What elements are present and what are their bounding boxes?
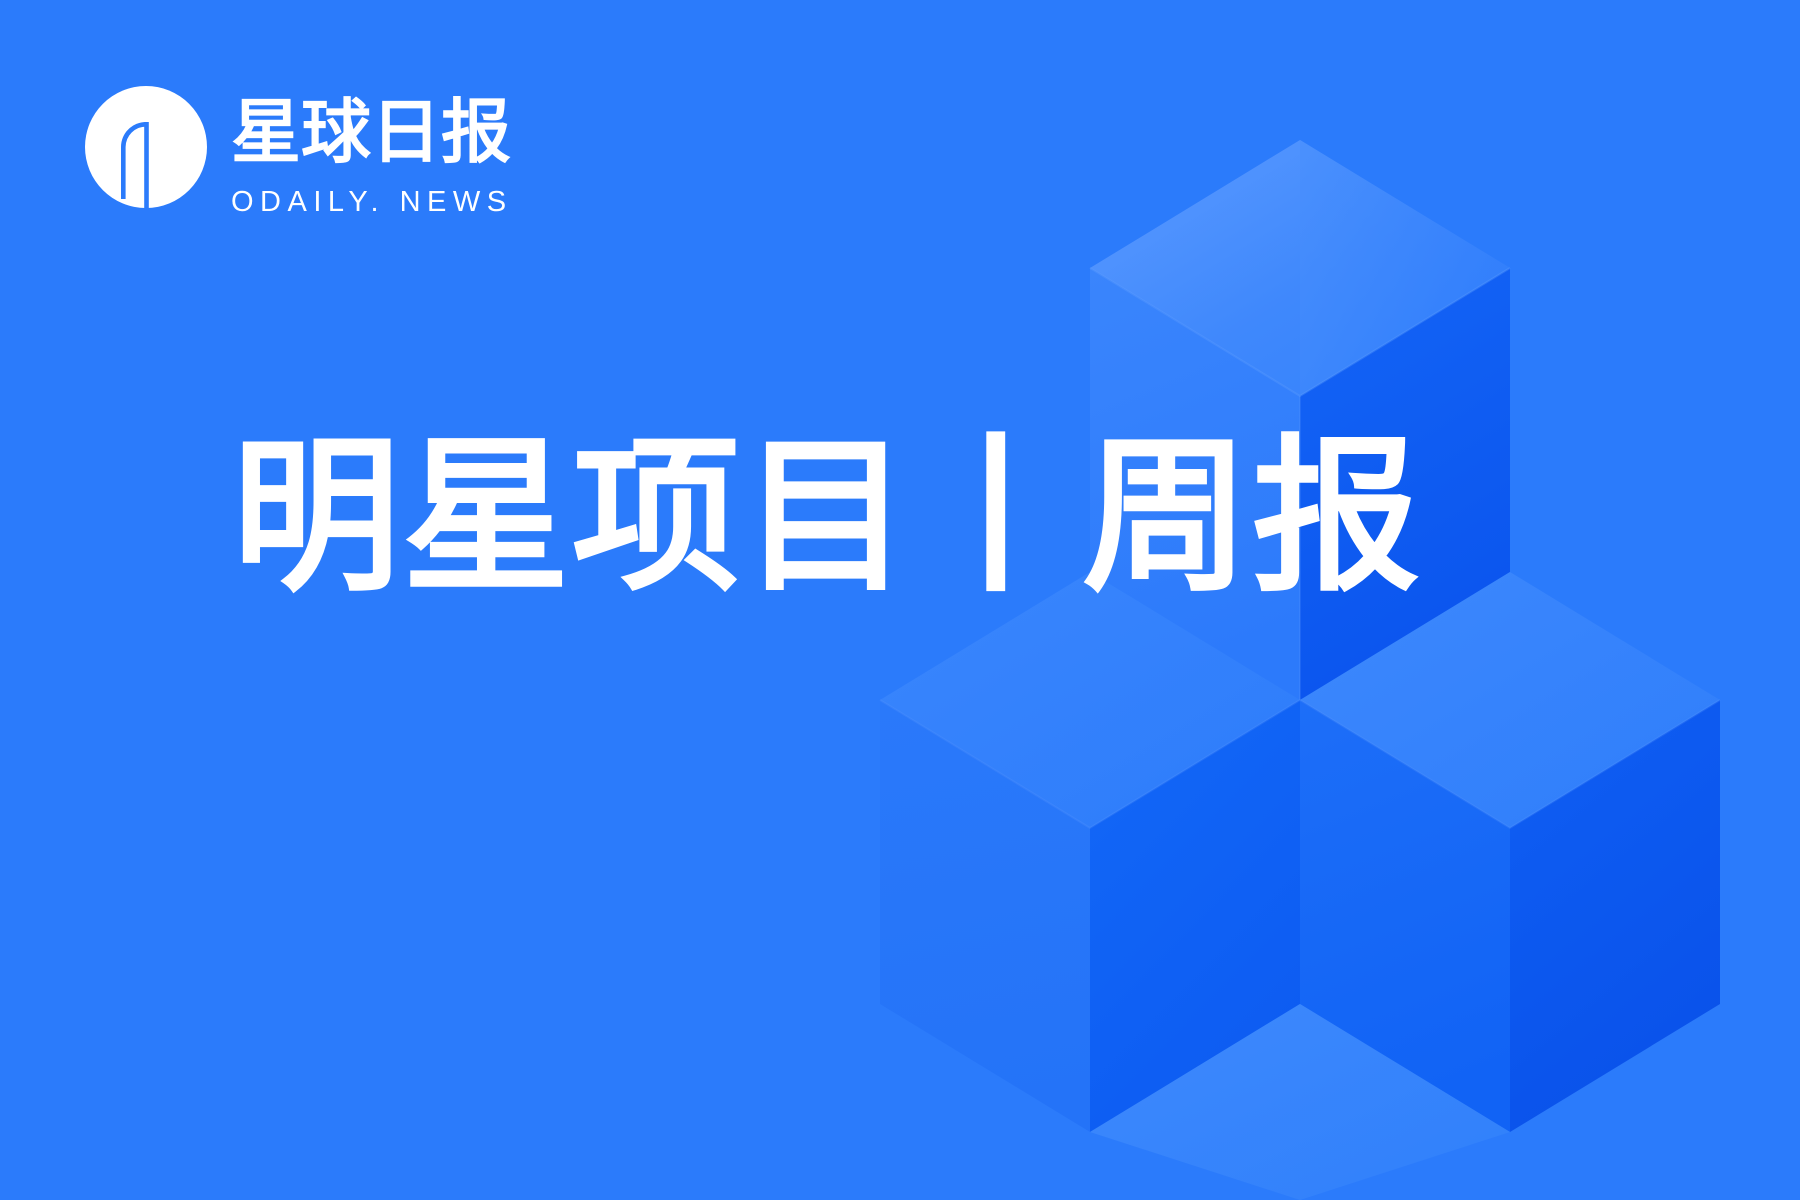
brand-name-cn-text: 星球日报	[231, 94, 511, 171]
poster-canvas: 星球日报 ODAILY. NEWS 明星项目丨周报	[0, 0, 1800, 1200]
brand-lockup: 星球日报 ODAILY. NEWS	[85, 80, 521, 217]
page-title: 明星项目丨周报	[232, 432, 1412, 612]
brand-text-block: 星球日报 ODAILY. NEWS	[231, 80, 521, 217]
odaily-planet-p-logo-icon	[85, 86, 207, 208]
page-title-text: 明星项目丨周报	[232, 423, 1422, 611]
brand-name-en: ODAILY. NEWS	[231, 188, 521, 217]
brand-name-cn: 星球日报	[231, 94, 521, 172]
